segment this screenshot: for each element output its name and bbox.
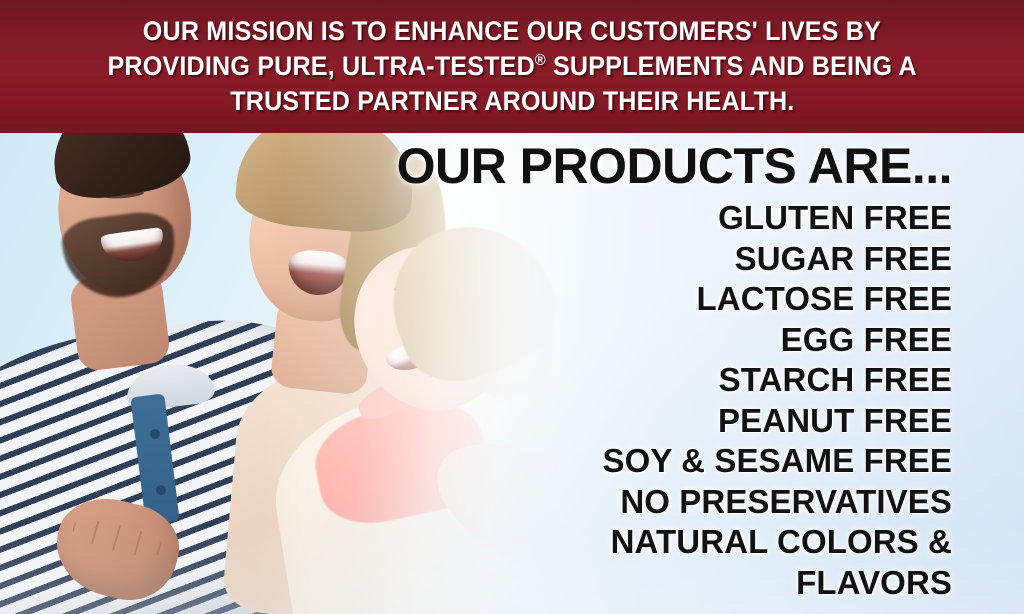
man-button-lower bbox=[156, 485, 166, 495]
claim-item: EGG FREE bbox=[352, 320, 952, 361]
registered-trademark-icon: ® bbox=[535, 52, 546, 69]
advertisement-root: OUR MISSION IS TO ENHANCE OUR CUSTOMERS'… bbox=[0, 0, 1024, 614]
mission-line-2-suffix: SUPPLEMENTS AND BEING A bbox=[546, 51, 917, 81]
mission-line-1: OUR MISSION IS TO ENHANCE OUR CUSTOMERS'… bbox=[143, 14, 881, 49]
claim-item: PEANUT FREE bbox=[352, 401, 952, 442]
claim-item: STARCH FREE bbox=[352, 360, 952, 401]
mission-line-2: PROVIDING PURE, ULTRA-TESTED® SUPPLEMENT… bbox=[107, 49, 916, 84]
claim-item: LACTOSE FREE bbox=[352, 279, 952, 320]
products-panel: OUR PRODUCTS ARE... GLUTEN FREE SUGAR FR… bbox=[352, 140, 952, 603]
product-claims-list: GLUTEN FREE SUGAR FREE LACTOSE FREE EGG … bbox=[352, 198, 952, 603]
mission-line-3: TRUSTED PARTNER AROUND THEIR HEALTH. bbox=[230, 84, 794, 119]
claim-item: SUGAR FREE bbox=[352, 239, 952, 280]
man-button-upper bbox=[150, 429, 160, 439]
claim-item: GLUTEN FREE bbox=[352, 198, 952, 239]
claim-item: FLAVORS bbox=[352, 563, 952, 604]
mission-banner: OUR MISSION IS TO ENHANCE OUR CUSTOMERS'… bbox=[0, 0, 1024, 133]
claim-item: NATURAL COLORS & bbox=[352, 522, 952, 563]
mission-line-2-prefix: PROVIDING PURE, ULTRA-TESTED bbox=[107, 51, 534, 81]
claim-item: SOY & SESAME FREE bbox=[352, 441, 952, 482]
products-heading: OUR PRODUCTS ARE... bbox=[352, 140, 952, 192]
claim-item: NO PRESERVATIVES bbox=[352, 482, 952, 523]
